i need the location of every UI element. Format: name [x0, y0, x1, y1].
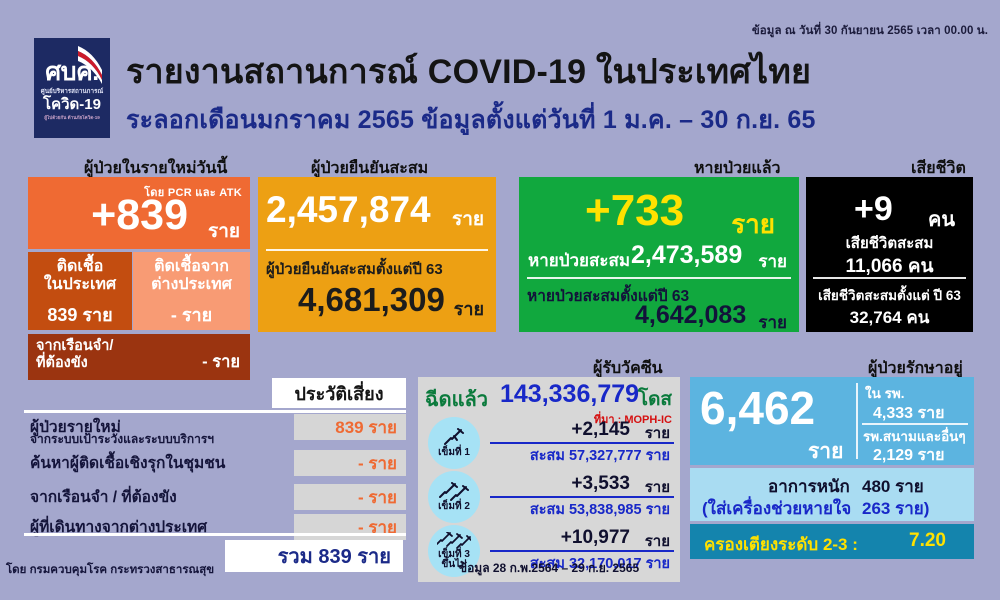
recovered-cum-value: 2,473,589 [631, 241, 742, 270]
risk-value: - ราย [294, 450, 406, 476]
cumulative-value: 2,457,874 [266, 191, 431, 228]
severe-cases-row: อาการหนัก 480 ราย (ใส่เครื่องช่วยหายใจ 2… [690, 468, 974, 521]
divider [24, 533, 406, 536]
recovered-cum-unit: ราย [758, 248, 787, 275]
recovered-since63-unit: ราย [758, 309, 787, 336]
bed-occupancy-row: ครองเตียงระดับ 2-3 : 7.20 [690, 524, 974, 559]
domestic-label-line2: ในประเทศ [28, 276, 132, 294]
new-cases-box: โดย PCR และ ATK +839 ราย [28, 177, 250, 249]
deaths-box: +9 คน เสียชีวิตสะสม 11,066 คน เสียชีวิตส… [806, 177, 973, 332]
vaccine-injected-label: ฉีดแล้ว [425, 383, 488, 415]
dose1-new: +2,145 [571, 419, 630, 441]
dose1-cumulative: สะสม 57,327,777 ราย [490, 444, 670, 467]
treatment-total-unit: ราย [808, 435, 843, 468]
logo-sub-text-2: โควิด-19 [43, 97, 101, 114]
imported-label-line2: ต่างประเทศ [133, 276, 250, 294]
cumulative-since63-label: ผู้ป่วยยืนยันสะสมตั้งแต่ปี 63 [266, 257, 443, 281]
bed-value: 7.20 [909, 530, 946, 552]
recovered-value: +733 [585, 189, 684, 233]
treatment-total: 6,462 [700, 385, 815, 431]
dose2-row: +3,533 ราย สะสม 53,838,985 ราย [490, 473, 674, 517]
deaths-value: +9 [854, 192, 893, 226]
prison-value: - ราย [202, 349, 240, 375]
page-subtitle: ระลอกเดือนมกราคม 2565 ข้อมูลตั้งแต่วันที… [126, 100, 816, 140]
divider [813, 277, 966, 279]
ventilator-value: 263 ราย) [862, 495, 929, 522]
risk-value: 839 ราย [294, 414, 406, 440]
syringe-glyph [439, 482, 469, 502]
syringe-glyph [441, 428, 467, 448]
recovered-unit: ราย [731, 204, 775, 245]
risk-label: ค้นหาผู้ติดเชื้อเชิงรุกในชุมชน [30, 450, 225, 475]
vaccine-footer: ข้อมูล 28 ก.พ.2564 – 29 ก.ย. 2565 [418, 559, 680, 578]
domestic-label-line1: ติดเชื้อ [28, 252, 132, 276]
syringe-glyph [437, 532, 471, 550]
risk-total-value: รวม 839 ราย [225, 540, 403, 572]
logo-sub-text-3: สู้ไปด้วยกัน ต้านภัยโควิด-19 [44, 115, 100, 122]
ventilator-label: (ใส่เครื่องช่วยหายใจ [702, 495, 851, 522]
risk-row-new-cases: ผู้ป่วยรายใหม่ จากระบบเป้าระวังและระบบบร… [24, 414, 406, 440]
treatment-box: 6,462 ราย ใน รพ. 4,333 ราย รพ.สนามและอื่… [690, 377, 974, 582]
logo-main-text: ศบค. [45, 60, 98, 85]
imported-cases-cell: ติดเชื้อจาก ต่างประเทศ - ราย [133, 252, 250, 330]
dose1-label: เข็มที่ 1 [438, 448, 470, 459]
risk-sublabel: จากระบบเป้าระวังและระบบบริการฯ [30, 430, 214, 449]
dose3-new: +10,977 [561, 527, 630, 549]
vaccine-box: ฉีดแล้ว 143,336,779 โดส ที่มา : MOPH-IC … [418, 377, 680, 582]
risk-row-prison: จากเรือนจำ / ที่ต้องขัง - ราย [24, 484, 406, 510]
cumulative-box: 2,457,874 ราย ผู้ป่วยยืนยันสะสมตั้งแต่ปี… [258, 177, 496, 332]
dose1-row: +2,145 ราย สะสม 57,327,777 ราย [490, 419, 674, 463]
data-timestamp: ข้อมูล ณ วันที่ 30 กันยายน 2565 เวลา 00.… [752, 22, 988, 40]
imported-value: - ราย [133, 294, 250, 329]
logo-sub-text-1: ศูนย์บริหารสถานการณ์ [41, 86, 104, 96]
prison-label-line1: จากเรือนจำ/ [36, 338, 113, 354]
deaths-since63-label: เสียชีวิตสะสมตั้งแต่ ปี 63 [806, 284, 973, 306]
domestic-cases-cell: ติดเชื้อ ในประเทศ 839 ราย [28, 252, 132, 330]
treatment-main: 6,462 ราย ใน รพ. 4,333 ราย รพ.สนามและอื่… [690, 377, 974, 465]
risk-label: จากเรือนจำ / ที่ต้องขัง [30, 484, 177, 509]
divider [527, 277, 791, 279]
risk-value: - ราย [294, 484, 406, 510]
prison-cases-cell: จากเรือนจำ/ ที่ต้องขัง - ราย [28, 334, 250, 380]
syringe-single-icon: เข็มที่ 1 [428, 417, 480, 469]
imported-label-line1: ติดเชื้อจาก [133, 252, 250, 276]
divider [266, 249, 488, 251]
sbc-logo: ศบค. ศูนย์บริหารสถานการณ์ โควิด-19 สู้ไป… [34, 38, 110, 138]
recovered-box: +733 ราย หายป่วยสะสม 2,473,589 ราย หายป่… [519, 177, 799, 332]
divider [856, 383, 858, 459]
dose2-label: เข็มที่ 2 [438, 502, 470, 513]
page-title: รายงานสถานการณ์ COVID-19 ในประเทศไทย [126, 44, 811, 98]
domestic-value: 839 ราย [28, 294, 132, 329]
bed-label: ครองเตียงระดับ 2-3 : [704, 531, 858, 558]
field-hospital-value: 2,129 ราย [873, 443, 944, 468]
new-cases-unit: ราย [208, 216, 240, 246]
dose2-cumulative: สะสม 53,838,985 ราย [490, 498, 670, 521]
credit-text: โดย กรมควบคุมโรค กระทรวงสาธารณสุข [6, 561, 214, 579]
deaths-since63-value: 32,764 คน [806, 304, 973, 331]
vaccine-total-doses: 143,336,779 [500, 380, 639, 409]
recovered-since63-value: 4,642,083 [635, 303, 746, 328]
infographic-root: ข้อมูล ณ วันที่ 30 กันยายน 2565 เวลา 00.… [0, 0, 1000, 600]
syringe-double-icon: เข็มที่ 2 [428, 471, 480, 523]
recovered-cum-label: หายป่วยสะสม [528, 247, 630, 274]
risk-row-overseas: ผู้ที่เดินทางจากต่างประเทศ - ราย [24, 514, 406, 540]
dose2-new: +3,533 [571, 473, 630, 495]
risk-history-badge: ประวัติเสี่ยง [272, 378, 406, 408]
prison-label-line2: ที่ต้องขัง [36, 355, 88, 371]
risk-value: - ราย [294, 514, 406, 540]
risk-row-active-screening: ค้นหาผู้ติดเชื้อเชิงรุกในชุมชน - ราย [24, 450, 406, 476]
cumulative-unit: ราย [452, 204, 484, 234]
new-cases-value: +839 [91, 194, 188, 237]
cumulative-since63-unit: ราย [454, 294, 484, 323]
cumulative-since63-value: 4,681,309 [298, 283, 445, 316]
